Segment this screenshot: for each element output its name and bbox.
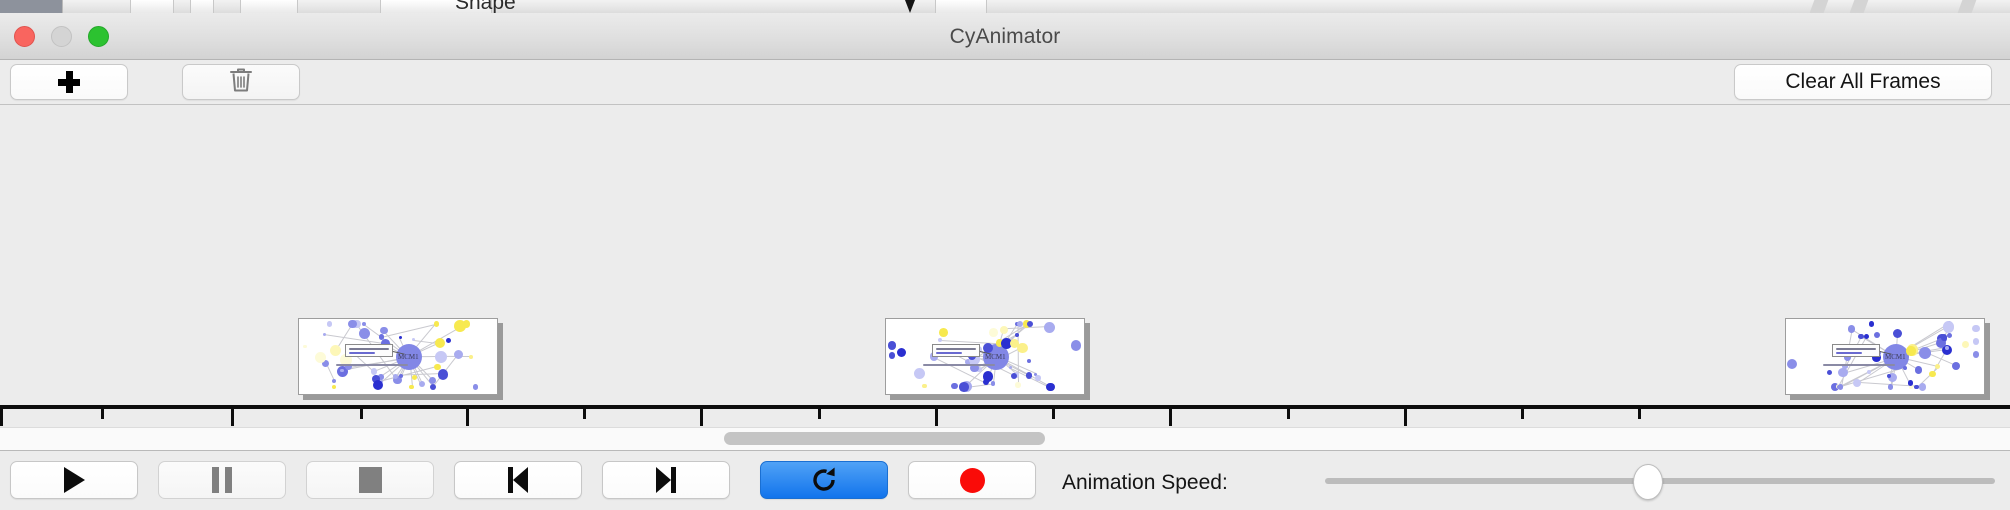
graph-node bbox=[429, 377, 436, 384]
graph-node bbox=[332, 385, 336, 389]
graph-node bbox=[373, 380, 383, 390]
graph-node bbox=[399, 374, 403, 378]
graph-node bbox=[393, 374, 398, 379]
graph-annotation-box bbox=[345, 344, 393, 357]
graph-node bbox=[1838, 384, 1843, 389]
graph-node bbox=[1973, 351, 1980, 358]
graph-node bbox=[1935, 364, 1940, 369]
graph-node bbox=[303, 345, 307, 349]
graph-node bbox=[1838, 368, 1848, 378]
frame-thumbnail-3[interactable]: MCM1 bbox=[1785, 318, 1990, 400]
graph-node bbox=[1853, 379, 1861, 387]
ruler-tick bbox=[1638, 409, 1641, 419]
scrollbar-thumb[interactable] bbox=[724, 432, 1046, 445]
graph-node bbox=[983, 343, 993, 353]
graph-node bbox=[1015, 333, 1019, 337]
graph-node bbox=[1000, 326, 1008, 334]
graph-node bbox=[1906, 346, 1915, 355]
annotation-text-line bbox=[1836, 352, 1862, 354]
ruler-tick bbox=[466, 409, 469, 426]
graph-node bbox=[438, 369, 448, 379]
network-graph-thumbnail: MCM1 bbox=[298, 318, 498, 395]
graph-node bbox=[1919, 347, 1931, 359]
graph-node bbox=[1011, 373, 1017, 379]
background-panel bbox=[240, 0, 298, 13]
background-marker-icon bbox=[905, 0, 915, 13]
pause-icon bbox=[212, 467, 232, 493]
graph-node bbox=[989, 328, 998, 337]
graph-node bbox=[434, 321, 440, 327]
graph-node bbox=[1874, 332, 1880, 338]
graph-node bbox=[1848, 325, 1856, 333]
graph-node bbox=[419, 381, 425, 387]
animation-speed-label: Animation Speed: bbox=[1062, 471, 1228, 495]
record-button[interactable] bbox=[908, 461, 1036, 499]
graph-node bbox=[454, 350, 463, 359]
graph-node bbox=[1027, 321, 1033, 327]
graph-node bbox=[1893, 329, 1902, 338]
background-active-tab bbox=[0, 0, 62, 13]
graph-node bbox=[371, 368, 377, 374]
ruler-tick bbox=[231, 409, 234, 426]
graph-node bbox=[1035, 375, 1040, 380]
graph-node bbox=[1972, 325, 1980, 333]
graph-node bbox=[1973, 338, 1980, 345]
ruler-tick bbox=[700, 409, 703, 426]
background-divider bbox=[62, 0, 63, 13]
background-panel bbox=[190, 0, 214, 13]
graph-node bbox=[1903, 366, 1907, 370]
annotation-text-line bbox=[349, 352, 375, 354]
graph-node bbox=[473, 384, 479, 390]
graph-node bbox=[991, 381, 995, 385]
clear-all-frames-button[interactable]: Clear All Frames bbox=[1734, 64, 1992, 100]
graph-caption-line bbox=[923, 364, 995, 366]
graph-node bbox=[412, 375, 417, 380]
timeline-ruler bbox=[0, 405, 2010, 409]
graph-node bbox=[1919, 383, 1927, 391]
background-slant bbox=[1958, 0, 1977, 13]
background-panel bbox=[935, 0, 987, 13]
delete-frame-button[interactable] bbox=[182, 64, 300, 100]
graph-node bbox=[897, 348, 907, 358]
graph-node bbox=[454, 320, 466, 332]
background-slant bbox=[1810, 0, 1829, 13]
graph-node bbox=[938, 338, 942, 342]
graph-node bbox=[435, 338, 445, 348]
graph-node bbox=[1908, 380, 1913, 385]
graph-node bbox=[1071, 340, 1082, 351]
graph-node bbox=[1026, 372, 1032, 378]
pause-button[interactable] bbox=[158, 461, 286, 499]
ruler-tick bbox=[935, 409, 938, 426]
annotation-text-line bbox=[1836, 348, 1876, 350]
ruler-tick bbox=[1169, 409, 1172, 426]
ruler-tick bbox=[360, 409, 363, 419]
graph-caption-line bbox=[336, 364, 408, 366]
graph-node bbox=[922, 384, 926, 388]
animation-speed-slider[interactable] bbox=[1325, 478, 1995, 484]
frames-toolbar: Clear All Frames bbox=[0, 60, 2010, 105]
graph-node bbox=[1787, 359, 1797, 369]
graph-node bbox=[1943, 321, 1954, 332]
stop-button[interactable] bbox=[306, 461, 434, 499]
graph-node bbox=[939, 328, 948, 337]
timeline-panel[interactable]: MCM1MCM1MCM1 12131415161718 Seconds bbox=[0, 105, 2010, 427]
frame-thumbnail-1[interactable]: MCM1 bbox=[298, 318, 503, 400]
graph-hub-label: MCM1 bbox=[398, 353, 419, 361]
skip-next-button[interactable] bbox=[602, 461, 730, 499]
graph-node bbox=[379, 334, 385, 340]
graph-annotation-box bbox=[932, 344, 980, 357]
graph-node bbox=[323, 333, 326, 336]
graph-node bbox=[1888, 384, 1894, 390]
network-graph-thumbnail: MCM1 bbox=[1785, 318, 1985, 395]
window-titlebar: CyAnimator bbox=[0, 13, 2010, 60]
background-slant bbox=[1850, 0, 1869, 13]
graph-node bbox=[1044, 322, 1055, 333]
play-button[interactable] bbox=[10, 461, 138, 499]
timeline-scrollbar[interactable] bbox=[0, 427, 2010, 451]
record-icon bbox=[960, 468, 985, 493]
add-frame-button[interactable] bbox=[10, 64, 128, 100]
graph-node bbox=[469, 355, 473, 359]
graph-node bbox=[380, 327, 387, 334]
graph-node bbox=[1869, 321, 1874, 326]
graph-node bbox=[1015, 382, 1021, 388]
graph-node bbox=[446, 338, 451, 343]
graph-node bbox=[1027, 359, 1031, 363]
ruler-tick bbox=[101, 409, 104, 419]
ruler-tick bbox=[0, 409, 3, 426]
graph-node bbox=[359, 328, 370, 339]
graph-node bbox=[1962, 341, 1969, 348]
loop-icon bbox=[810, 466, 838, 494]
cyanimator-window: CyAnimator Clear All Frames MCM1MCM1MCM1… bbox=[0, 13, 2010, 510]
background-window-strip: Shape bbox=[0, 0, 2010, 13]
background-shape-label: Shape bbox=[455, 0, 516, 13]
graph-node bbox=[327, 321, 332, 326]
trash-icon bbox=[229, 67, 253, 98]
graph-caption-line bbox=[1823, 364, 1895, 366]
graph-node bbox=[1858, 334, 1864, 340]
graph-node bbox=[430, 384, 436, 390]
graph-hub-label: MCM1 bbox=[1885, 353, 1906, 361]
graph-node bbox=[951, 383, 957, 389]
graph-node bbox=[1915, 366, 1923, 374]
graph-node bbox=[959, 382, 968, 391]
ruler-tick bbox=[1521, 409, 1524, 419]
stop-icon bbox=[359, 467, 382, 493]
graph-node bbox=[1046, 383, 1055, 392]
graph-node bbox=[409, 385, 414, 390]
graph-node bbox=[1952, 362, 1960, 370]
ruler-tick bbox=[1052, 409, 1055, 419]
frame-thumbnail-2[interactable]: MCM1 bbox=[885, 318, 1090, 400]
graph-node bbox=[914, 368, 925, 379]
annotation-text-line bbox=[936, 352, 962, 354]
playback-control-bar: Animation Speed: bbox=[0, 451, 2010, 510]
graph-node bbox=[1909, 385, 1913, 389]
graph-node bbox=[983, 371, 993, 381]
window-title: CyAnimator bbox=[0, 25, 2010, 49]
graph-node bbox=[330, 345, 341, 356]
graph-node bbox=[1929, 371, 1936, 378]
background-panel bbox=[130, 0, 174, 13]
annotation-text-line bbox=[936, 348, 976, 350]
graph-node bbox=[435, 351, 447, 363]
graph-hub-label: MCM1 bbox=[985, 353, 1006, 361]
graph-node bbox=[399, 336, 402, 339]
play-icon bbox=[64, 467, 85, 493]
loop-toggle-button[interactable] bbox=[760, 461, 888, 499]
skip-next-icon bbox=[656, 467, 676, 493]
graph-node bbox=[888, 341, 896, 349]
ruler-tick bbox=[1287, 409, 1290, 419]
graph-node bbox=[1947, 333, 1952, 338]
skip-previous-icon bbox=[508, 467, 528, 493]
graph-node bbox=[889, 352, 895, 358]
annotation-text-line bbox=[349, 348, 389, 350]
plus-icon bbox=[58, 71, 80, 93]
animation-speed-slider-thumb[interactable] bbox=[1633, 464, 1663, 500]
graph-node bbox=[1827, 370, 1832, 375]
ruler-tick bbox=[1404, 409, 1407, 426]
graph-node bbox=[434, 364, 441, 371]
ruler-tick bbox=[818, 409, 821, 419]
graph-node bbox=[332, 379, 336, 383]
graph-annotation-box bbox=[1832, 344, 1880, 357]
ruler-tick bbox=[583, 409, 586, 419]
skip-previous-button[interactable] bbox=[454, 461, 582, 499]
network-graph-thumbnail: MCM1 bbox=[885, 318, 1085, 395]
